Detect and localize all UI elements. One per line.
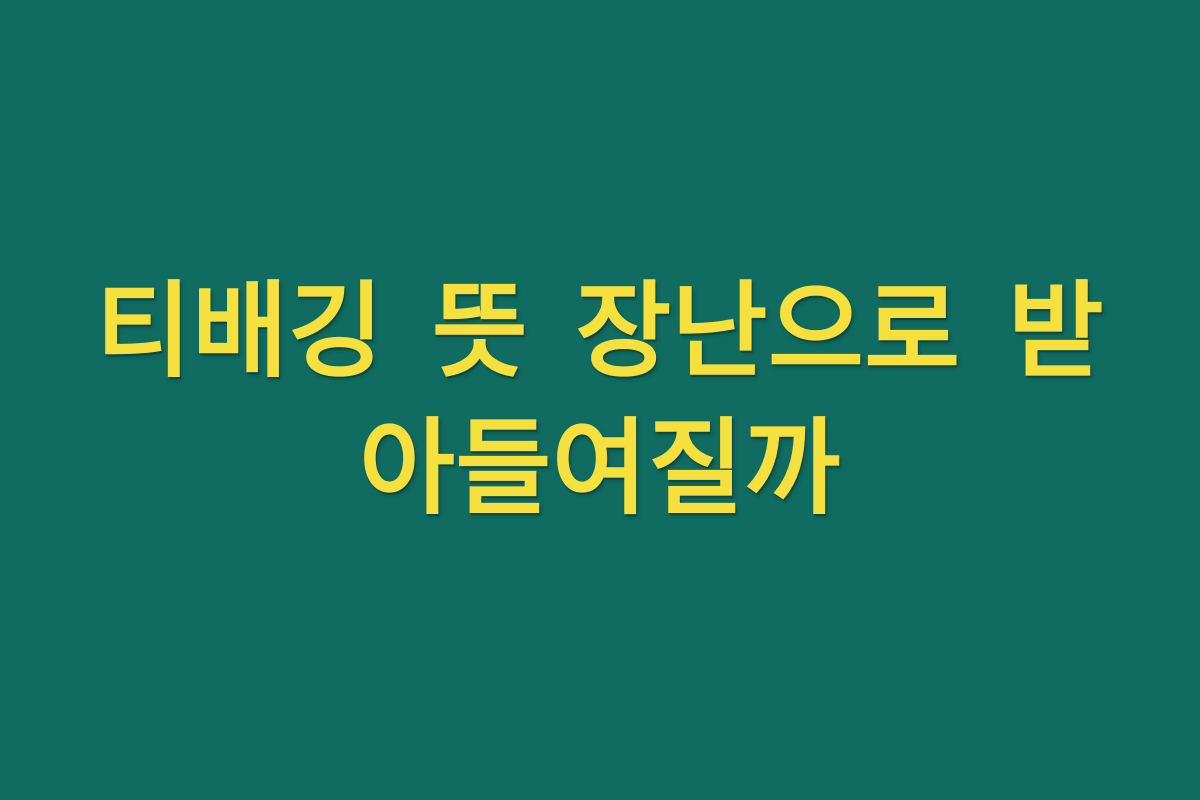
headline-text: 티배깅 뜻 장난으로 받 아들여질까 — [95, 263, 1105, 538]
thumbnail-canvas: 티배깅 뜻 장난으로 받 아들여질까 — [0, 0, 1200, 800]
headline-line-1: 티배깅 뜻 장난으로 받 — [95, 263, 1105, 400]
headline-line-2: 아들여질까 — [95, 400, 1105, 537]
